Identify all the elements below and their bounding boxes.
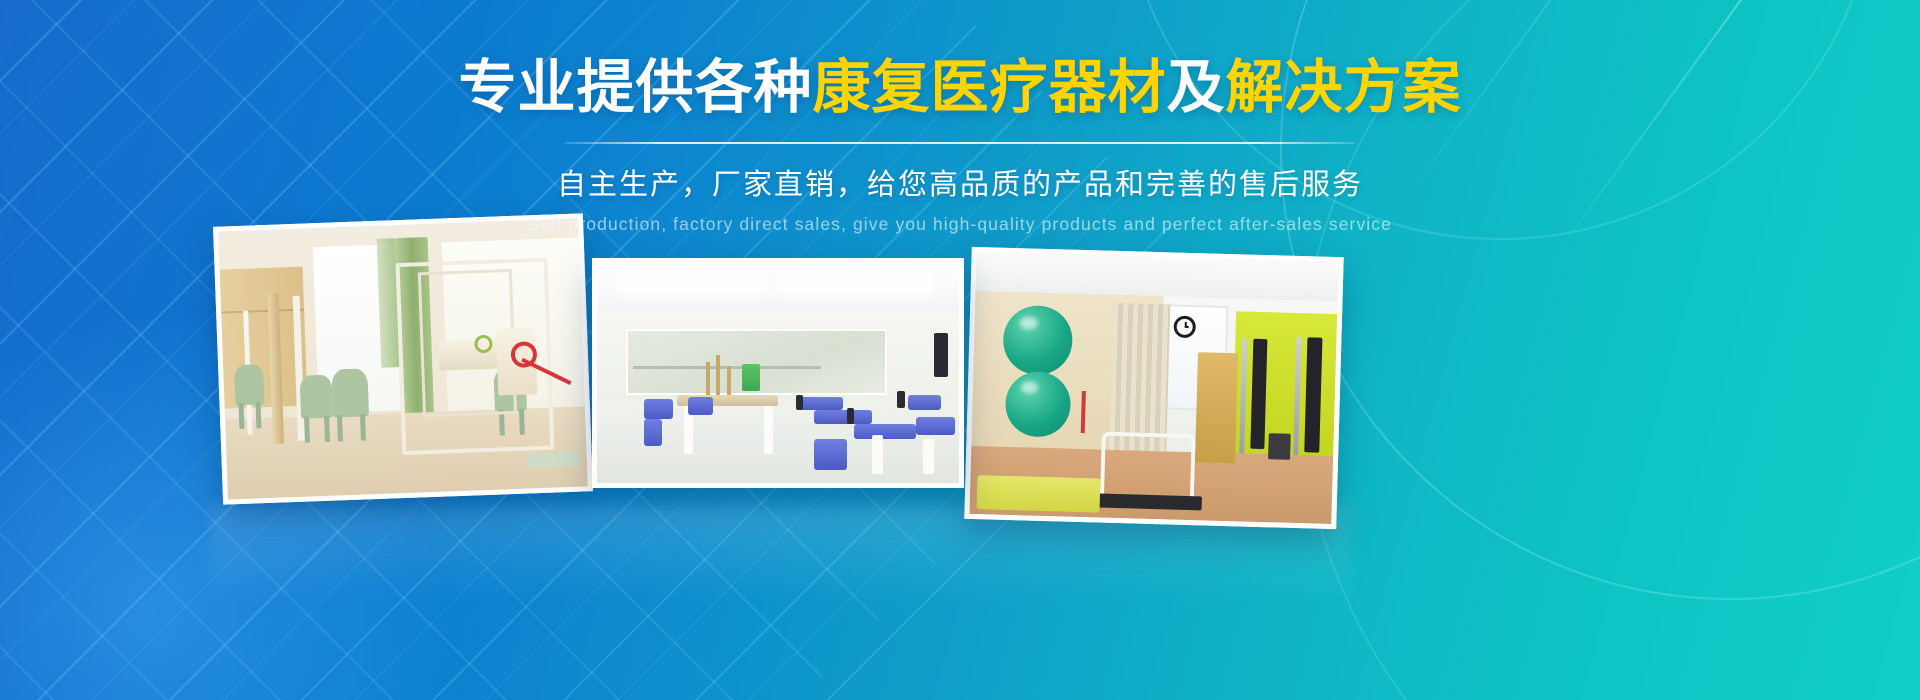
banner-subtitle-chinese: 自主生产，厂家直销，给您高品质的产品和完善的售后服务	[0, 161, 1920, 203]
headline-segment-white-2: 及	[1167, 53, 1226, 121]
photo-1-scene	[218, 218, 588, 499]
headline-divider	[565, 142, 1355, 144]
banner-headline: 专业提供各种康复医疗器材及解决方案	[0, 58, 1920, 116]
photo-exercise-ball-room[interactable]	[964, 247, 1343, 529]
photo-rehab-training-room[interactable]	[213, 213, 593, 504]
headline-segment-white-1: 专业提供各种	[458, 53, 812, 121]
chair-3	[234, 364, 264, 405]
exercise-ball-upper	[1002, 305, 1073, 375]
chair-1	[299, 375, 333, 419]
photo-2-scene	[597, 263, 959, 483]
photo-3-scene	[969, 252, 1338, 524]
banner-text-block: 专业提供各种康复医疗器材及解决方案 自主生产，厂家直销，给您高品质的产品和完善的…	[0, 58, 1920, 235]
wall-clock	[1174, 315, 1197, 338]
headline-segment-yellow-2: 解决方案	[1226, 53, 1462, 121]
chair-2	[331, 368, 369, 418]
photo-physiotherapy-hall[interactable]	[592, 258, 964, 488]
headline-segment-yellow-1: 康复医疗器材	[812, 53, 1166, 121]
banner-subtitle-english: Self production, factory direct sales, g…	[0, 214, 1920, 235]
promo-banner: 专业提供各种康复医疗器材及解决方案 自主生产，厂家直销，给您高品质的产品和完善的…	[0, 0, 1920, 700]
